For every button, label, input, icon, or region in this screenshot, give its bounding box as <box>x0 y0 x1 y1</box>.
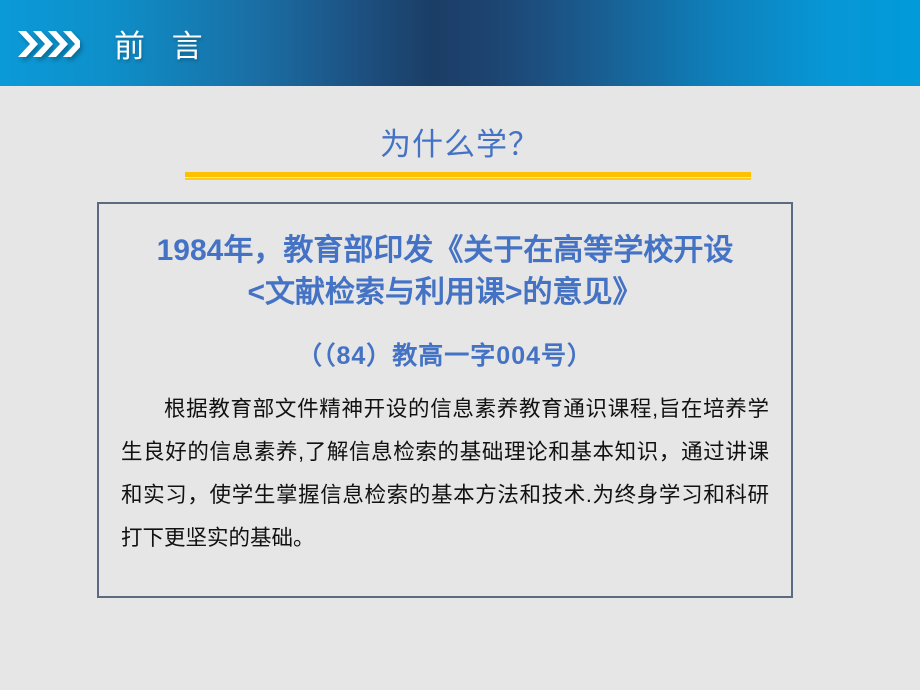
box-heading-line-2: <文献检索与利用课>的意见》 <box>117 272 773 314</box>
title-underline-rule <box>185 172 751 181</box>
box-paragraph: 根据教育部文件精神开设的信息素养教育通识课程,旨在培养学生良好的信息素养,了解信… <box>99 372 791 560</box>
double-chevron-right-icon <box>18 29 80 59</box>
header-banner: 前 言 <box>0 0 920 86</box>
content-box: 1984年，教育部印发《关于在高等学校开设 <文献检索与利用课>的意见》 （（8… <box>97 202 793 598</box>
rule-thin-bar <box>185 178 751 180</box>
section-title: 为什么学？ <box>0 119 920 164</box>
box-heading: 1984年，教育部印发《关于在高等学校开设 <文献检索与利用课>的意见》 <box>99 204 791 314</box>
header-title: 前 言 <box>114 21 212 66</box>
box-subheading: （（84）教高一字004号） <box>99 314 791 372</box>
box-heading-line-1: 1984年，教育部印发《关于在高等学校开设 <box>117 230 773 272</box>
